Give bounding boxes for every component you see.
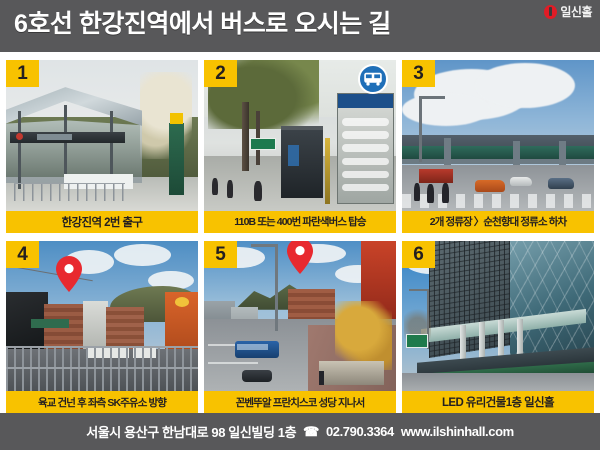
green-highway-sign	[406, 334, 428, 348]
station-pylon-sign	[169, 123, 184, 195]
board-row	[342, 171, 389, 179]
directions-step-grid: 1 한강진역 2번 출구	[0, 52, 600, 413]
ilshin-logo-icon	[544, 5, 557, 19]
cloud	[402, 93, 490, 126]
board-row	[342, 158, 389, 166]
board-row	[342, 184, 389, 192]
street-lamp	[419, 96, 422, 162]
brand-name: 일신홀	[560, 3, 592, 20]
led-glass-building-ilshinhall-photo: 6	[402, 241, 594, 392]
step-number-badge: 1	[6, 60, 39, 87]
orange-car	[475, 180, 505, 192]
cloud	[475, 63, 575, 108]
step-caption-4: 육교 건넌 후 좌측 SK주유소 방향	[6, 391, 198, 413]
red-dot	[16, 133, 23, 140]
canopy-post	[18, 111, 21, 189]
board-header	[338, 94, 394, 108]
footer-address: 서울시 용산구 한남대로 98 일신빌딩 1층	[86, 422, 296, 441]
page-footer: 서울시 용산구 한남대로 98 일신빌딩 1층 ☎ 02.790.3364 ww…	[0, 413, 600, 450]
hangangjin-station-exit-2-photo: 1	[6, 60, 198, 211]
overpass-sk-gas-station-direction-photo: 4	[6, 241, 198, 392]
step-number-badge: 2	[204, 60, 237, 87]
bus-icon	[363, 71, 383, 87]
pedestrian	[254, 181, 262, 201]
pedestrian	[442, 183, 449, 203]
step-card-6[interactable]: 6 LED 유리건물1층 일신홀	[402, 241, 594, 414]
step-number-badge: 5	[204, 241, 237, 268]
green-facade-band	[31, 319, 69, 328]
green-street-sign	[250, 138, 276, 150]
dark-car	[242, 370, 272, 382]
step-caption-3: 2개 정류장 〉순천향대 정류소 하차	[402, 211, 594, 233]
blue-car	[548, 178, 574, 189]
white-building	[83, 301, 108, 352]
white-car	[510, 177, 532, 186]
step-caption-5: 꼰벤뚜알 프란치스코 성당 지나서	[204, 391, 396, 413]
tree	[140, 72, 192, 159]
step-caption-2: 110B 또는 400번 파란색버스 탑승	[204, 211, 396, 233]
step-card-1[interactable]: 1 한강진역 2번 출구	[6, 60, 198, 233]
bus-information-board	[337, 93, 395, 204]
step-number-badge: 4	[6, 241, 39, 268]
bus-stop-boarding-photo: 2	[204, 60, 396, 211]
step-card-4[interactable]: 4 육교 건넌 후 좌측 SK주유소 방향	[6, 241, 198, 414]
yellow-post	[325, 138, 330, 204]
roadway	[402, 373, 594, 391]
pedestrian	[319, 371, 324, 385]
bus-shelter	[281, 126, 323, 198]
map-pin-icon	[287, 241, 313, 274]
board-row	[342, 118, 389, 126]
step-card-2[interactable]: 2 110B 또는 400번 파란색버스 탑승	[204, 60, 396, 233]
step-number-badge: 6	[402, 241, 435, 268]
page-header: 6호선 한강진역에서 버스로 오시는 길 일신홀	[0, 0, 600, 52]
board-row	[342, 144, 389, 152]
step-caption-1: 한강진역 2번 출구	[6, 211, 198, 233]
brick-building	[44, 304, 86, 352]
construction-debris	[319, 361, 384, 385]
footer-phone[interactable]: 02.790.3364	[326, 424, 394, 439]
lane-marking	[208, 362, 258, 364]
red-bus	[419, 169, 453, 183]
street-lamp	[275, 244, 278, 331]
map-pin-icon	[56, 256, 82, 292]
blue-bus	[235, 341, 279, 358]
step-card-3[interactable]: 3 2개 정류장 〉순천향대 정류소 하차	[402, 60, 594, 233]
pedestrian	[427, 184, 434, 203]
pedestrian	[414, 183, 420, 201]
step-caption-6: LED 유리건물1층 일신홀	[402, 391, 594, 413]
metal-fence	[6, 346, 198, 391]
station-sign-bar	[10, 132, 125, 143]
step-number-badge: 3	[402, 60, 435, 87]
pedestrian	[212, 178, 218, 195]
railing	[14, 183, 125, 201]
page-title: 6호선 한강진역에서 버스로 오시는 길	[14, 7, 391, 41]
bus-icon-badge	[358, 64, 388, 94]
tree-trunk	[242, 102, 249, 171]
autumn-tree	[335, 301, 393, 370]
conventual-francisco-cathedral-photo: 5	[204, 241, 396, 392]
board-row	[342, 131, 389, 139]
phone-icon: ☎	[303, 424, 319, 440]
overpass-intersection-photo: 3	[402, 60, 594, 211]
pedestrian	[227, 180, 233, 198]
brand-logo: 일신홀	[544, 3, 592, 20]
cloud	[114, 244, 172, 267]
step-card-5[interactable]: 5 꼰벤뚜알 프란치스코 성당 지나서	[204, 241, 396, 414]
footer-website[interactable]: www.ilshinhall.com	[401, 424, 514, 439]
